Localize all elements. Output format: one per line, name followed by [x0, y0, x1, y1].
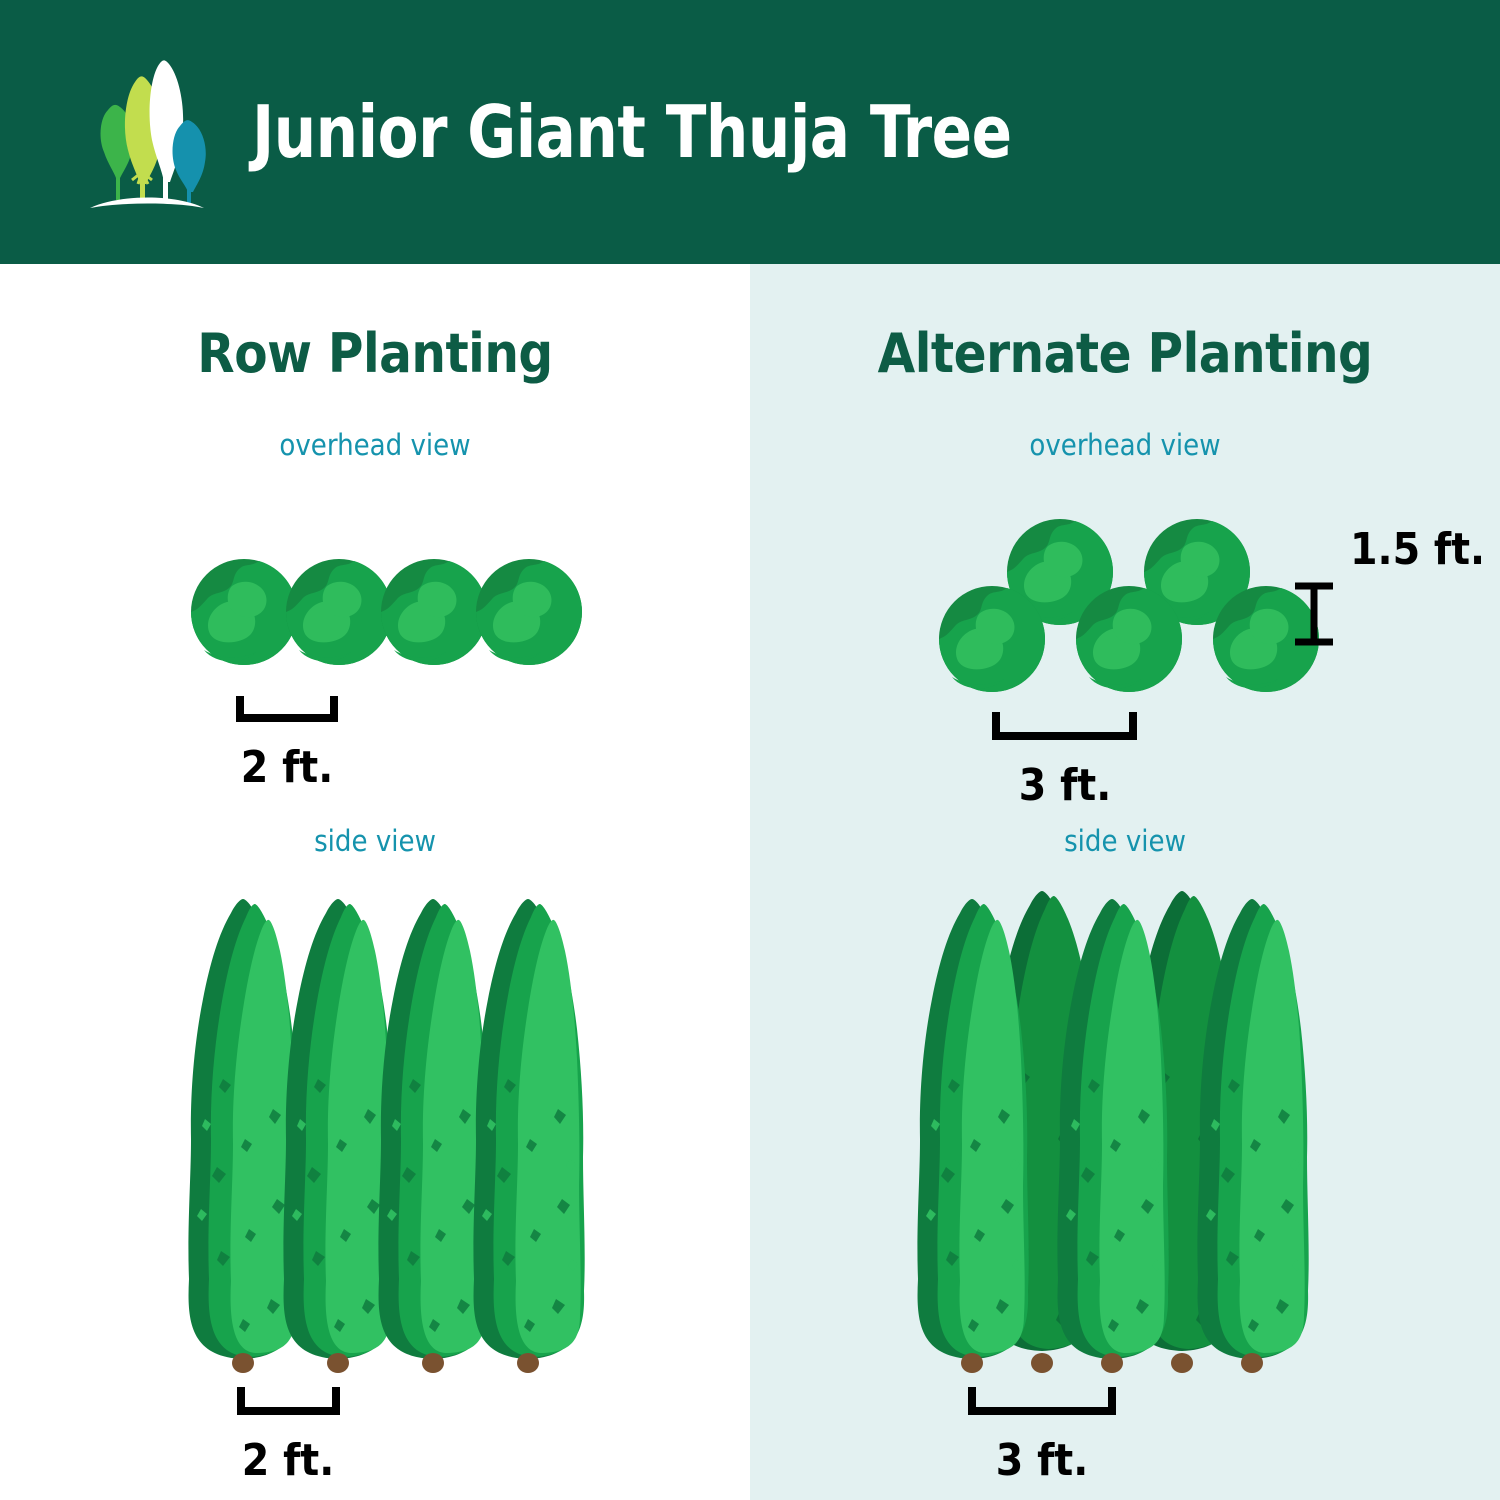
dimension-bracket-sideview-right	[968, 1387, 1116, 1415]
dimension-label-offset-right: 1.5 ft.	[1350, 524, 1485, 575]
dimension-bracket-sideview-left	[237, 1387, 340, 1415]
label-overhead-view-left: overhead view	[0, 428, 750, 462]
tree-group-front-row	[917, 899, 1308, 1359]
trunk-group-right	[961, 1353, 1263, 1373]
label-side-view-right: side view	[750, 824, 1500, 858]
panel-row-planting: Row Planting overhead view	[0, 264, 750, 1500]
dimension-bracket-overhead-right	[992, 712, 1137, 740]
dimension-bracket-overhead-left	[236, 696, 338, 722]
overhead-diagram-alternate-planting: 1.5 ft. 3 ft.	[750, 494, 1500, 814]
overhead-diagram-row-planting: 2 ft.	[0, 494, 750, 814]
four-trees-logo-icon	[80, 52, 210, 212]
canopy-group	[191, 559, 582, 665]
dimension-label-overhead-left: 2 ft.	[241, 742, 334, 793]
tree-group	[188, 899, 584, 1359]
label-side-view-left: side view	[0, 824, 750, 858]
panel-alternate-planting: Alternate Planting overhead view	[750, 264, 1500, 1500]
heading-row-planting: Row Planting	[0, 322, 750, 385]
sideview-diagram-row-planting: 2 ft.	[0, 869, 750, 1489]
sideview-diagram-alternate-planting: 3 ft.	[750, 869, 1500, 1489]
canopy-front-row	[939, 586, 1319, 692]
dimension-label-sideview-left: 2 ft.	[242, 1435, 335, 1486]
trunk-group	[232, 1353, 539, 1373]
header-bar: Junior Giant Thuja Tree	[0, 0, 1500, 264]
label-overhead-view-right: overhead view	[750, 428, 1500, 462]
dimension-label-sideview-right: 3 ft.	[996, 1435, 1089, 1486]
page-title: Junior Giant Thuja Tree	[252, 90, 1012, 174]
heading-alternate-planting: Alternate Planting	[750, 322, 1500, 385]
dimension-label-overhead-right: 3 ft.	[1019, 760, 1112, 811]
panels-container: Row Planting overhead view	[0, 264, 1500, 1500]
infographic-page: Junior Giant Thuja Tree Row Planting ove…	[0, 0, 1500, 1500]
